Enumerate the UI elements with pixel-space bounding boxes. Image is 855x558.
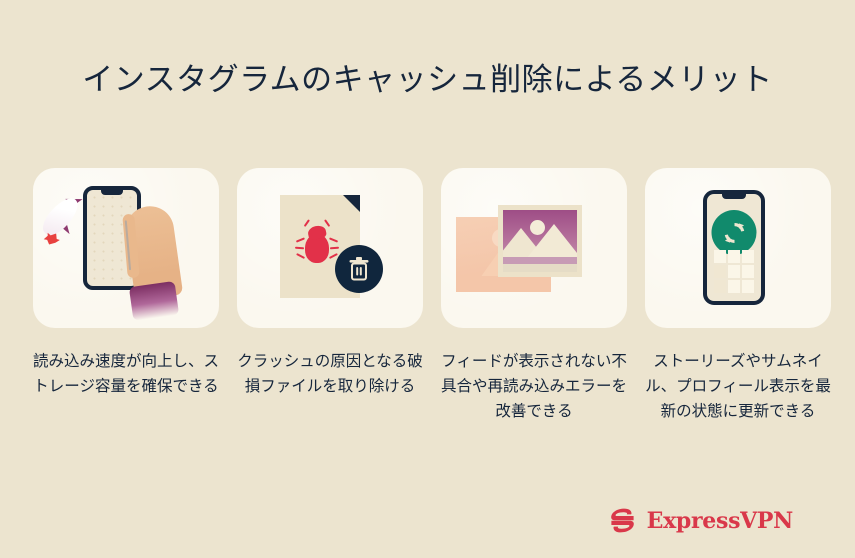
- benefit-card-1: 読み込み速度が向上し、ストレージ容量を確保できる: [33, 168, 219, 424]
- sleeve-icon: [129, 281, 179, 321]
- trash-icon: [335, 245, 383, 293]
- corrupt-file-illustration: [237, 168, 423, 328]
- app-tile-grid: [714, 250, 754, 293]
- benefit-card-caption: フィードが表示されない不具合や再読み込みエラーを改善できる: [441, 349, 627, 424]
- phone-frame-icon: [703, 190, 765, 305]
- foreground-photo-icon: [498, 205, 582, 277]
- rocket-icon: [38, 193, 84, 240]
- benefit-card-caption: ストーリーズやサムネイル、プロフィール表示を最新の状態に更新できる: [645, 349, 831, 424]
- refresh-icon: [712, 210, 757, 255]
- refresh-phone-illustration: [645, 168, 831, 328]
- expressvpn-e-mark-icon: [607, 505, 638, 536]
- bug-icon: [300, 223, 334, 263]
- benefits-card-row: 読み込み速度が向上し、ストレージ容量を確保できる: [33, 168, 823, 424]
- brand-name: ExpressVPN: [647, 508, 793, 534]
- benefit-card-3: フィードが表示されない不具合や再読み込みエラーを改善できる: [441, 168, 627, 424]
- benefit-card-4: ストーリーズやサムネイル、プロフィール表示を最新の状態に更新できる: [645, 168, 831, 424]
- page-title: インスタグラムのキャッシュ削除によるメリット: [0, 58, 855, 102]
- document-fold-icon: [343, 195, 360, 212]
- photo-stack-illustration: [441, 168, 627, 328]
- benefit-card-caption: 読み込み速度が向上し、ストレージ容量を確保できる: [33, 349, 219, 399]
- rocket-phone-illustration: [33, 168, 219, 328]
- phone-notch-icon: [722, 194, 746, 199]
- benefit-card-caption: クラッシュの原因となる破損ファイルを取り除ける: [237, 349, 423, 399]
- expressvpn-logo: ExpressVPN: [607, 505, 793, 536]
- benefit-card-2: クラッシュの原因となる破損ファイルを取り除ける: [237, 168, 423, 424]
